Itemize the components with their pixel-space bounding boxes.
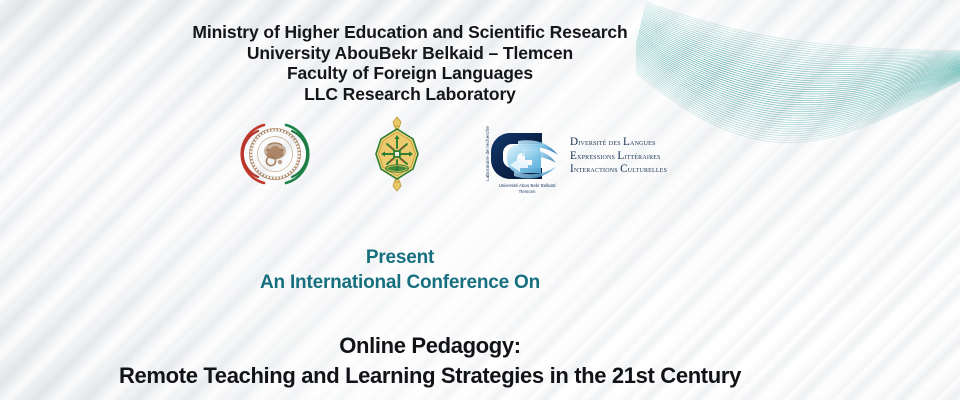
llc-globe-c-icon [484,121,562,193]
llc-tagline-3-rest: nteractions [574,165,620,174]
llc-tagline-line-1: Diversité des Langues [570,136,667,150]
poster-content: Ministry of Higher Education and Scienti… [0,0,960,400]
llc-tagline-2-rest2: ittéraires [624,152,660,161]
header-line-faculty: Faculty of Foreign Languages [0,63,820,84]
institution-header: Ministry of Higher Education and Scienti… [0,22,820,104]
conference-subtitle: An International Conference On [0,270,800,295]
university-tlemcen-emblem-icon [366,116,428,192]
llc-mark-icon: Laboratoire de recherche Université Abou… [484,121,562,193]
university-emblem-logo [366,116,428,197]
llc-tagline: Diversité des Langues Expressions Littér… [570,136,667,177]
llc-tagline-2-rest: xpressions [577,152,617,161]
llc-tagline-line-2: Expressions Littéraires [570,150,667,164]
llc-tagline-1-rest2: angues [630,138,656,147]
llc-sub-label-line-2: Tlemcen [490,189,564,195]
present-label: Present [0,245,800,270]
llc-tagline-1-rest: iversité des [578,138,623,147]
header-line-laboratory: LLC Research Laboratory [0,84,820,105]
llc-laboratory-logo: Laboratoire de recherche Université Abou… [484,121,667,193]
conference-title-line-1: Online Pedagogy: [0,331,860,361]
llc-tagline-2-cap: E [570,150,577,162]
llc-sub-label: Université Abou Bekr Belkaïd Tlemcen [490,183,564,194]
present-block: Present An International Conference On [0,245,800,295]
llc-tagline-line-3: Interactions Culturelles [570,163,667,177]
conference-poster: Ministry of Higher Education and Scienti… [0,0,960,400]
logo-row: Laboratoire de recherche Université Abou… [238,116,667,197]
ministry-seal-icon [238,117,312,191]
llc-tagline-3-cap2: C [620,163,628,175]
llc-tagline-3-rest2: ulturelles [628,165,667,174]
conference-title-block: Online Pedagogy: Remote Teaching and Lea… [0,331,860,391]
conference-title-line-2: Remote Teaching and Learning Strategies … [0,361,860,391]
header-line-ministry: Ministry of Higher Education and Scienti… [0,22,820,43]
llc-tagline-1-cap2: L [623,136,630,148]
ministry-seal-logo [238,117,312,196]
header-line-university: University AbouBekr Belkaid – Tlemcen [0,43,820,64]
llc-vertical-label: Laboratoire de recherche [483,125,493,183]
